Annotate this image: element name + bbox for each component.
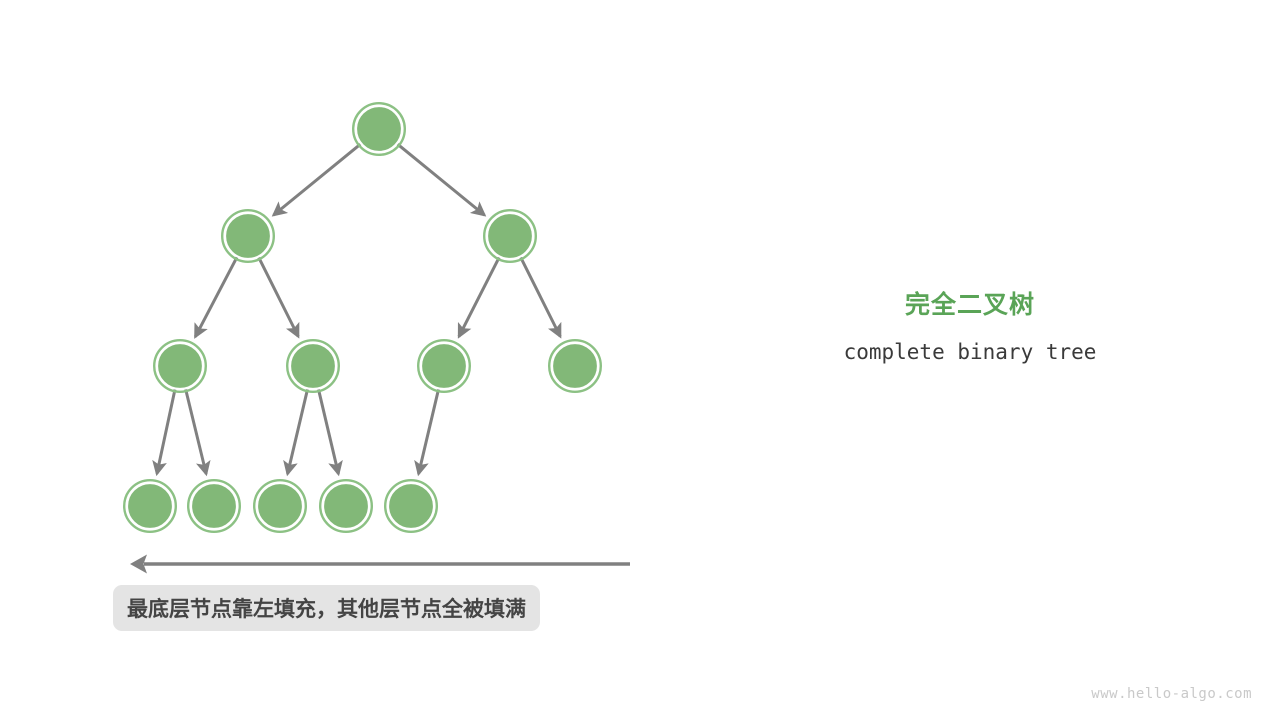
- tree-edge: [259, 257, 299, 336]
- tree-edge: [398, 144, 485, 215]
- tree-node-circle: [127, 483, 173, 529]
- tree-edge: [419, 389, 439, 474]
- tree-node[interactable]: [124, 480, 176, 532]
- tree-edge: [459, 257, 499, 336]
- tree-node-circle: [487, 213, 533, 259]
- tree-node[interactable]: [287, 340, 339, 392]
- tree-node-circle: [157, 343, 203, 389]
- tree-node-circle: [388, 483, 434, 529]
- tree-node[interactable]: [188, 480, 240, 532]
- tree-node-circle: [257, 483, 303, 529]
- tree-node[interactable]: [484, 210, 536, 262]
- legend-subtitle: complete binary tree: [760, 340, 1180, 365]
- tree-node[interactable]: [222, 210, 274, 262]
- watermark: www.hello-algo.com: [1091, 686, 1252, 702]
- tree-edge: [195, 257, 237, 336]
- tree-node-circle: [356, 106, 402, 152]
- tree-node[interactable]: [549, 340, 601, 392]
- tree-node-layer: [124, 103, 601, 532]
- legend-title: 完全二叉树: [760, 290, 1180, 320]
- tree-node-circle: [552, 343, 598, 389]
- tree-node[interactable]: [418, 340, 470, 392]
- legend-block: 完全二叉树 complete binary tree: [760, 290, 1180, 365]
- tree-node-circle: [191, 483, 237, 529]
- caption-box: 最底层节点靠左填充，其他层节点全被填满: [113, 585, 540, 631]
- tree-edge-layer: [157, 144, 560, 474]
- tree-edge: [186, 389, 207, 474]
- caption-text: 最底层节点靠左填充，其他层节点全被填满: [127, 593, 526, 623]
- tree-node[interactable]: [254, 480, 306, 532]
- tree-node-circle: [421, 343, 467, 389]
- diagram-page: 完全二叉树 complete binary tree 最底层节点靠左填充，其他层…: [0, 0, 1280, 720]
- tree-edge: [319, 389, 339, 474]
- tree-edge: [157, 389, 175, 473]
- tree-node[interactable]: [353, 103, 405, 155]
- tree-node[interactable]: [320, 480, 372, 532]
- tree-edge: [288, 389, 308, 474]
- tree-node-circle: [323, 483, 369, 529]
- tree-edge: [274, 144, 361, 215]
- tree-node[interactable]: [154, 340, 206, 392]
- tree-edge: [521, 257, 561, 336]
- tree-node-circle: [290, 343, 336, 389]
- tree-node[interactable]: [385, 480, 437, 532]
- fill-direction-annotation: [130, 555, 630, 574]
- tree-node-circle: [225, 213, 271, 259]
